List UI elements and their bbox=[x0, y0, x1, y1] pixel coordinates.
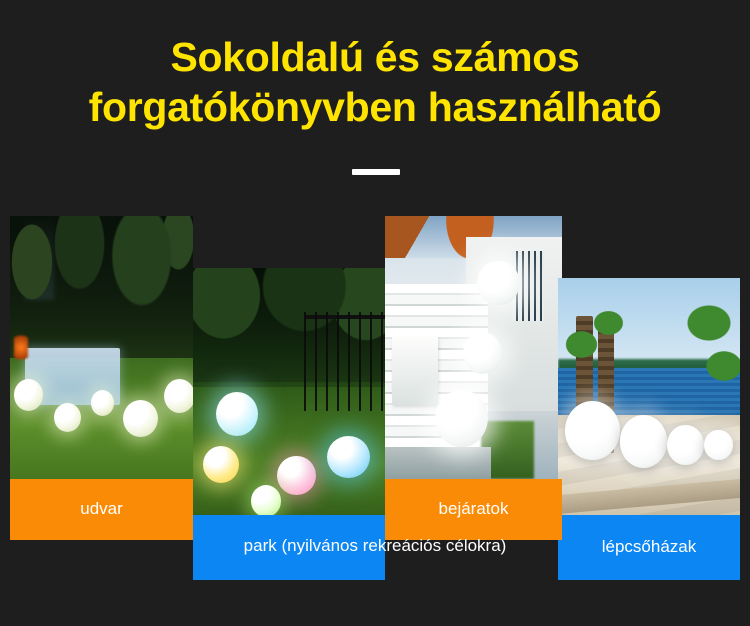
glowing-sphere-pink bbox=[277, 456, 315, 496]
white-sphere bbox=[667, 425, 703, 465]
glowing-sphere-cyan bbox=[216, 392, 258, 436]
gallery-panel-3[interactable] bbox=[385, 216, 562, 479]
white-sphere bbox=[565, 401, 620, 460]
palm-frond bbox=[583, 302, 634, 345]
glowing-sphere bbox=[463, 332, 502, 374]
gallery-panel-1[interactable] bbox=[10, 216, 193, 479]
glowing-sphere-blue bbox=[327, 436, 369, 478]
pavement bbox=[385, 447, 491, 479]
glowing-sphere-green bbox=[251, 485, 282, 515]
glowing-sphere-yellow bbox=[203, 446, 239, 483]
gallery-panel-2[interactable] bbox=[193, 268, 385, 515]
entrance-steps-photo bbox=[385, 216, 562, 479]
night-garden-photo bbox=[10, 216, 193, 479]
stone-block bbox=[392, 337, 438, 405]
fire-glow bbox=[14, 332, 29, 364]
glowing-sphere bbox=[123, 400, 158, 437]
gallery-panel-4[interactable] bbox=[558, 278, 740, 515]
gallery-caption-1: udvar bbox=[10, 479, 193, 540]
lakeside-stairs-photo bbox=[558, 278, 740, 515]
gallery-caption-1-label: udvar bbox=[80, 499, 123, 519]
iron-fence bbox=[304, 312, 385, 411]
white-sphere bbox=[620, 415, 667, 467]
glowing-sphere bbox=[14, 379, 43, 411]
white-sphere bbox=[704, 430, 733, 461]
glowing-sphere bbox=[435, 390, 488, 448]
scenario-gallery: udvar park (nyilvános rekreációs célokra… bbox=[0, 0, 750, 626]
gallery-caption-3: bejáratok bbox=[385, 479, 562, 540]
tree-canopy bbox=[10, 216, 193, 369]
glowing-sphere bbox=[54, 403, 81, 432]
gallery-caption-3-label: bejáratok bbox=[439, 499, 509, 519]
glowing-sphere bbox=[91, 390, 115, 416]
park-pathway-photo bbox=[193, 268, 385, 515]
glowing-sphere bbox=[477, 261, 519, 306]
gallery-caption-2-label: park (nyilvános rekreációs célokra) bbox=[0, 536, 750, 556]
palm-frond bbox=[693, 340, 740, 392]
glowing-sphere bbox=[164, 379, 193, 413]
